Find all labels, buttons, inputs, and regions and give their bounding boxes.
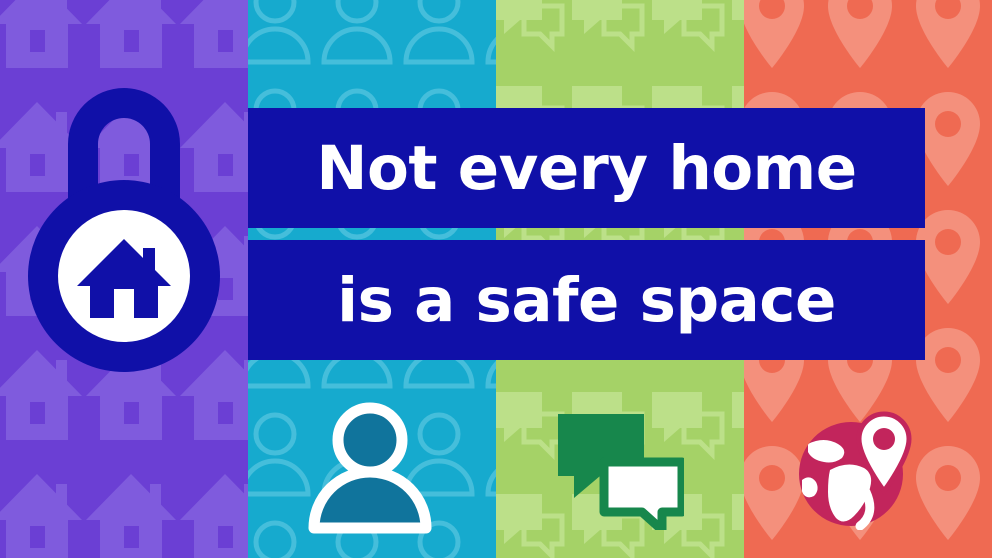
headline-line-2: is a safe space bbox=[337, 270, 836, 331]
person-icon bbox=[300, 400, 440, 540]
poster-canvas: Not every home is a safe space bbox=[0, 0, 992, 558]
feature-globe-pin bbox=[796, 408, 918, 530]
globe-pin-icon bbox=[796, 408, 918, 530]
headline-banner-1: Not every home bbox=[248, 108, 925, 228]
headline-banner-2: is a safe space bbox=[248, 240, 925, 360]
chat-bubble-front bbox=[604, 462, 682, 530]
feature-person bbox=[300, 400, 440, 540]
feature-chat bbox=[556, 408, 684, 530]
map-pin-hole bbox=[873, 428, 895, 450]
headline-line-1: Not every home bbox=[316, 138, 856, 199]
padlock-icon bbox=[24, 84, 224, 384]
chat-icon bbox=[556, 408, 684, 530]
padlock-house-badge bbox=[24, 84, 224, 384]
